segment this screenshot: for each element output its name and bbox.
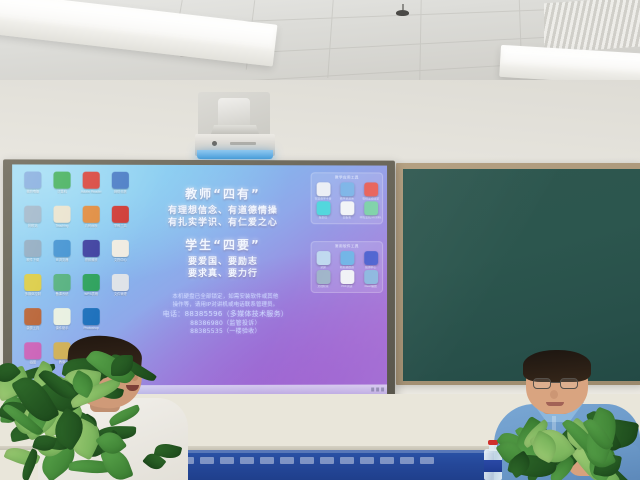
tool-panel-item-icon: [316, 202, 330, 216]
desktop-icon-glyph: [112, 274, 129, 291]
notice-line-2: 操作等，请用IP对讲机或电话联系管理员。: [133, 301, 318, 309]
desktop-icon-glyph: [83, 274, 100, 291]
tool-panel-item-icon: [364, 270, 378, 284]
desktop-icon-glyph: [24, 274, 41, 291]
tool-panel-item-label: 中控主机 MODEL: [359, 217, 382, 220]
tool-panel-item[interactable]: Flash播放: [359, 270, 382, 288]
ceiling-vent-grille: [544, 0, 640, 53]
desktop-icon-label: 视频播放: [77, 258, 106, 262]
tool-panel-item-label: PDF阅读: [335, 285, 358, 288]
ceiling: [0, 0, 640, 92]
projector-indicator-light: [197, 150, 273, 159]
desktop-icon[interactable]: 文件管理: [106, 273, 135, 305]
desktop-icon-label: Teaching: [47, 224, 76, 228]
tool-panel-item[interactable]: 文档检索: [312, 270, 335, 288]
desktop-icon-label: 文档中心: [106, 258, 135, 262]
desktop-icon-label: Photoshop: [77, 326, 106, 330]
desktop-icon-label: 回收站: [18, 224, 47, 228]
man-right-hair: [523, 350, 591, 382]
desktop-icon-glyph: [112, 240, 129, 257]
tool-panel-item-label: 录屏: [312, 266, 335, 269]
desktop-icon-label: 学科工具: [106, 224, 135, 228]
tool-panel-teaching-title: 教学应用工具: [313, 175, 381, 180]
desktop-icon-label: 计算机: [47, 190, 76, 194]
desktop-icon-glyph: [24, 206, 41, 223]
tool-panel-item-icon: [364, 182, 378, 196]
desktop-icon-glyph: [24, 240, 41, 257]
tool-panel-item[interactable]: 投影仪: [312, 202, 335, 220]
tool-panel-teaching-grid[interactable]: 智慧教学平台教学资源库在线互动课堂投影仪白板笔中控主机 MODEL: [313, 182, 381, 220]
slogan-teacher-line-2: 有扎实学识、有仁爱之心: [133, 217, 313, 229]
notice-phone-main: 电话：88385596（多媒体技术服务）: [133, 310, 318, 320]
tool-panel-item-icon: [316, 251, 330, 265]
desktop-icon[interactable]: Photoshop: [77, 307, 106, 339]
potted-plant-right: [496, 418, 640, 480]
tool-panel-item[interactable]: 智慧教学平台: [312, 182, 335, 200]
desktop-icon[interactable]: 录屏工具: [18, 307, 47, 339]
tool-panel-item[interactable]: 媒体中心: [359, 251, 382, 269]
desktop-icon[interactable]: IE浏览器: [47, 239, 76, 271]
desktop-icon-glyph: [112, 172, 129, 189]
tool-panel-item-label: 文档检索: [312, 285, 335, 288]
tool-panel-item[interactable]: 白板笔: [335, 202, 358, 220]
tool-panel-item-icon: [364, 202, 378, 216]
tool-panel-item-label: 媒体中心: [359, 266, 382, 269]
tool-panel-item-icon: [340, 182, 354, 196]
desktop-icon-label: 文件管理: [106, 292, 135, 296]
smoke-detector-icon: [396, 4, 409, 13]
tool-panel-software-title: 常用软件工具: [313, 244, 381, 249]
screen-notice-block: 本机硬盘已全部锁定，如需安装软件或其他 操作等，请用IP对讲机或电话联系管理员。…: [133, 293, 318, 337]
desktop-icon-glyph: [53, 206, 70, 223]
desktop-icon[interactable]: Adobe Reader: [77, 171, 106, 203]
ceiling-mounted-projector: [190, 92, 280, 162]
slogan-student-line-2: 要求真、要力行: [133, 268, 313, 280]
tool-panel-item-icon: [340, 202, 354, 216]
desktop-icon[interactable]: 文档中心: [106, 239, 135, 271]
tool-panel-item-label: 教学资源库: [335, 197, 358, 200]
network-icon: [371, 388, 374, 392]
desktop-icon-label: IE浏览器: [47, 258, 76, 262]
notice-phone-2: 88386980（监管投诉）: [133, 319, 318, 328]
slogan-heading-student: 学生“四要”: [133, 236, 313, 253]
desktop-icon-glyph: [112, 308, 129, 325]
tool-panel-item-label: 视频播放器: [335, 266, 358, 269]
desktop-icon[interactable]: 课件助手: [47, 307, 76, 339]
desktop-icon[interactable]: WPS表格: [77, 273, 106, 305]
tool-panel-item[interactable]: PDF阅读: [335, 270, 358, 288]
desktop-icon[interactable]: 学科工具: [106, 205, 135, 237]
glasses-icon: [533, 378, 551, 389]
tool-panel-item-label: Flash播放: [359, 285, 382, 288]
desktop-icon[interactable]: 视频播放: [77, 239, 106, 271]
slogan-block: 教师“四有” 有理想信念、有道德情操 有扎实学识、有仁爱之心 学生“四要” 要爱…: [133, 183, 313, 280]
desktop-icon-glyph: [53, 172, 70, 189]
desktop-icon[interactable]: 软件下载: [18, 239, 47, 271]
tool-panel-item[interactable]: 中控主机 MODEL: [359, 202, 382, 220]
desktop-icon-label: Adobe Reader: [77, 190, 106, 194]
tool-panel-item-icon: [316, 270, 330, 284]
slogan-student-line-1: 要爱国、要励志: [133, 256, 313, 268]
wall-upper-band: [0, 80, 640, 170]
desktop-icon-label: 录屏工具: [18, 326, 47, 330]
desktop-icon[interactable]: Teaching: [47, 205, 76, 237]
desktop-icon-glyph: [53, 240, 70, 257]
desktop-icon-label: WPS表格: [77, 292, 106, 296]
tool-panel-item[interactable]: 在线互动课堂: [359, 182, 382, 200]
desktop-icon[interactable]: 多媒体控制: [18, 273, 47, 305]
desktop-icon-glyph: [24, 171, 41, 188]
desktop-icon-label: 课件助手: [47, 326, 76, 330]
desktop-icon[interactable]: 我的电脑: [18, 170, 47, 202]
desktop-icon[interactable]: 网络邻居: [106, 171, 135, 203]
desktop-icon-glyph: [53, 308, 70, 325]
desktop-icon-glyph: [24, 308, 41, 325]
desktop-icon[interactable]: 几何画板: [77, 205, 106, 237]
clock-icon: [381, 387, 384, 391]
glasses-icon: [560, 378, 578, 389]
desktop-icon-glyph: [83, 172, 100, 189]
green-chalkboard: [403, 169, 640, 381]
tool-panel-item-icon: [364, 251, 378, 265]
slogan-heading-teacher: 教师“四有”: [133, 185, 313, 202]
tool-panel-item-icon: [316, 182, 330, 196]
desktop-icon[interactable]: 回收站: [18, 205, 47, 237]
tool-panel-item-icon: [340, 251, 354, 265]
tool-panel-item-label: 智慧教学平台: [312, 197, 335, 200]
tool-panel-item-label: 白板笔: [335, 217, 358, 220]
desktop-icon: [106, 307, 135, 339]
classroom-scene: 我的电脑计算机Adobe Reader网络邻居回收站Teaching几何画板学科…: [0, 0, 640, 480]
desktop-icon[interactable]: 备课系统: [47, 273, 76, 305]
desktop-icon-glyph: [83, 308, 100, 325]
volume-icon: [376, 387, 379, 391]
desktop-icon-label: 几何画板: [77, 224, 106, 228]
desktop-icon-glyph: [112, 206, 129, 223]
potted-plant-left: [0, 354, 182, 480]
desktop-icon-label: 我的电脑: [18, 190, 47, 194]
tool-panel-item-label: 投影仪: [312, 217, 335, 220]
projector-lens-icon: [212, 141, 217, 146]
tool-panel-item-icon: [340, 270, 354, 284]
system-tray[interactable]: [371, 387, 384, 391]
desktop-icon-glyph: [83, 240, 100, 257]
desktop-icon-label: 软件下载: [18, 258, 47, 262]
tool-panel-teaching[interactable]: 教学应用工具 智慧教学平台教学资源库在线互动课堂投影仪白板笔中控主机 MODEL: [311, 172, 383, 224]
slogan-teacher-line-1: 有理想信念、有道德情操: [133, 205, 313, 217]
desktop-icon[interactable]: 计算机: [47, 171, 76, 203]
tool-panel-item-label: 在线互动课堂: [359, 197, 382, 200]
tool-panel-item[interactable]: 录屏: [312, 251, 335, 269]
tool-panel-item[interactable]: 视频播放器: [335, 251, 358, 269]
desktop-icon-label: 备课系统: [47, 292, 76, 296]
desktop-icon-glyph: [83, 206, 100, 223]
tool-panel-item[interactable]: 教学资源库: [335, 182, 358, 200]
notice-line-1: 本机硬盘已全部锁定，如需安装软件或其他: [133, 293, 318, 301]
tool-panel-software-grid[interactable]: 录屏视频播放器媒体中心文档检索PDF阅读Flash播放: [313, 251, 381, 289]
plant-leaf: [108, 404, 142, 427]
tool-panel-software[interactable]: 常用软件工具 录屏视频播放器媒体中心文档检索PDF阅读Flash播放: [311, 241, 383, 293]
desktop-icon-glyph: [53, 274, 70, 291]
desktop-icon-label: 网络邻居: [106, 190, 135, 194]
desktop-icon-label: 多媒体控制: [18, 292, 47, 296]
